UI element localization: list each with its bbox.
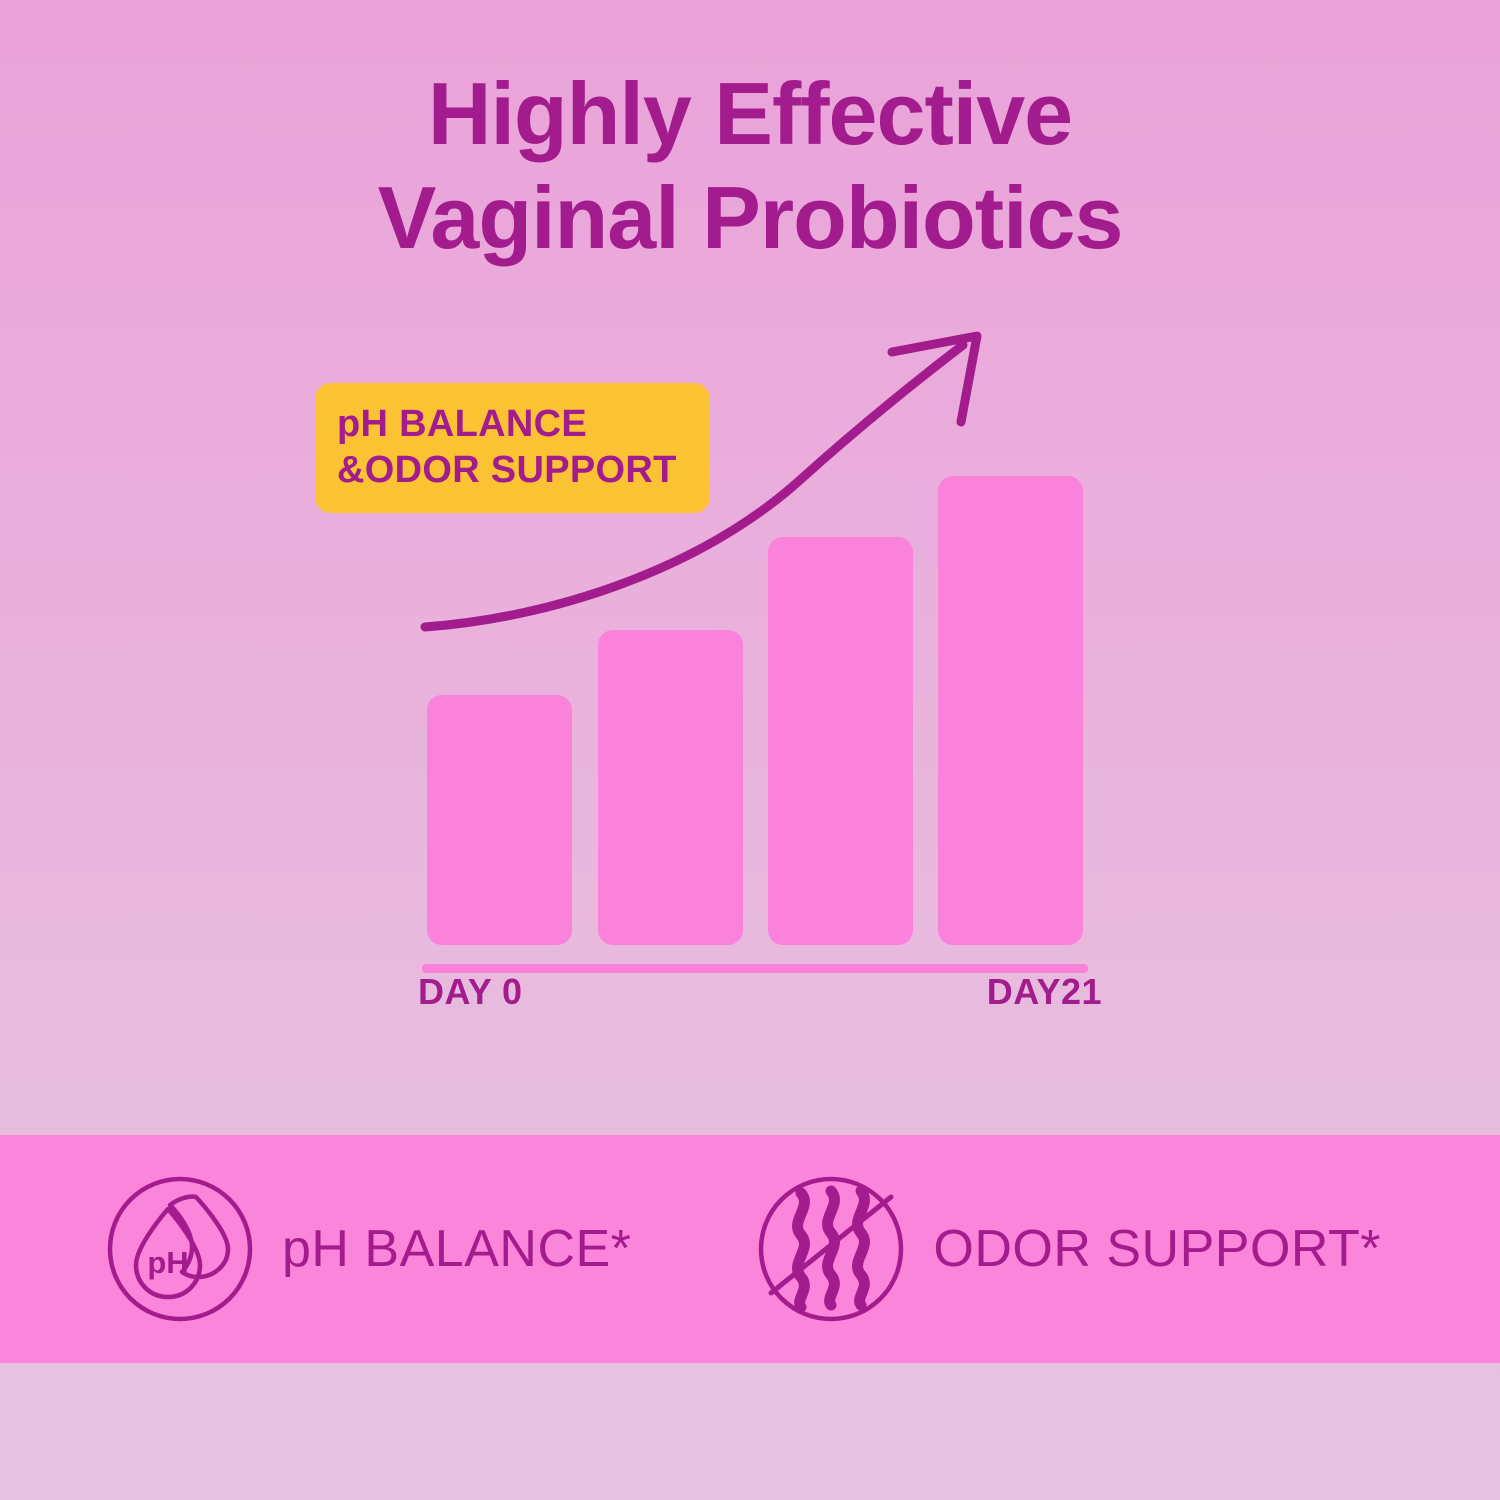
- badge-line-2: &ODOR SUPPORT: [337, 447, 710, 493]
- title-line-2: Vaginal Probiotics: [0, 166, 1500, 270]
- promo-image: Highly Effective Vaginal Probiotics DAY …: [0, 0, 1500, 1500]
- feature-label: ODOR SUPPORT*: [933, 1220, 1381, 1278]
- chart-axis-labels: DAY 0 DAY21: [418, 972, 1102, 1012]
- feature-banner: pH pH BALANCE* ODOR SUPPORT*: [0, 1135, 1500, 1363]
- no-odor-icon: [751, 1169, 911, 1329]
- feature-ph-balance: pH pH BALANCE*: [100, 1169, 631, 1329]
- axis-label-start: DAY 0: [418, 972, 523, 1012]
- chart-bar: [598, 630, 743, 945]
- badge-line-1: pH BALANCE: [337, 401, 710, 447]
- ph-droplet-icon: pH: [100, 1169, 260, 1329]
- axis-label-end: DAY21: [987, 972, 1102, 1012]
- chart-bar: [427, 695, 572, 945]
- feature-label: pH BALANCE*: [282, 1220, 631, 1278]
- ph-icon-text: pH: [147, 1245, 188, 1280]
- page-title: Highly Effective Vaginal Probiotics: [0, 62, 1500, 270]
- feature-odor-support: ODOR SUPPORT*: [751, 1169, 1381, 1329]
- ph-odor-badge: pH BALANCE &ODOR SUPPORT: [315, 383, 710, 513]
- title-line-1: Highly Effective: [0, 62, 1500, 166]
